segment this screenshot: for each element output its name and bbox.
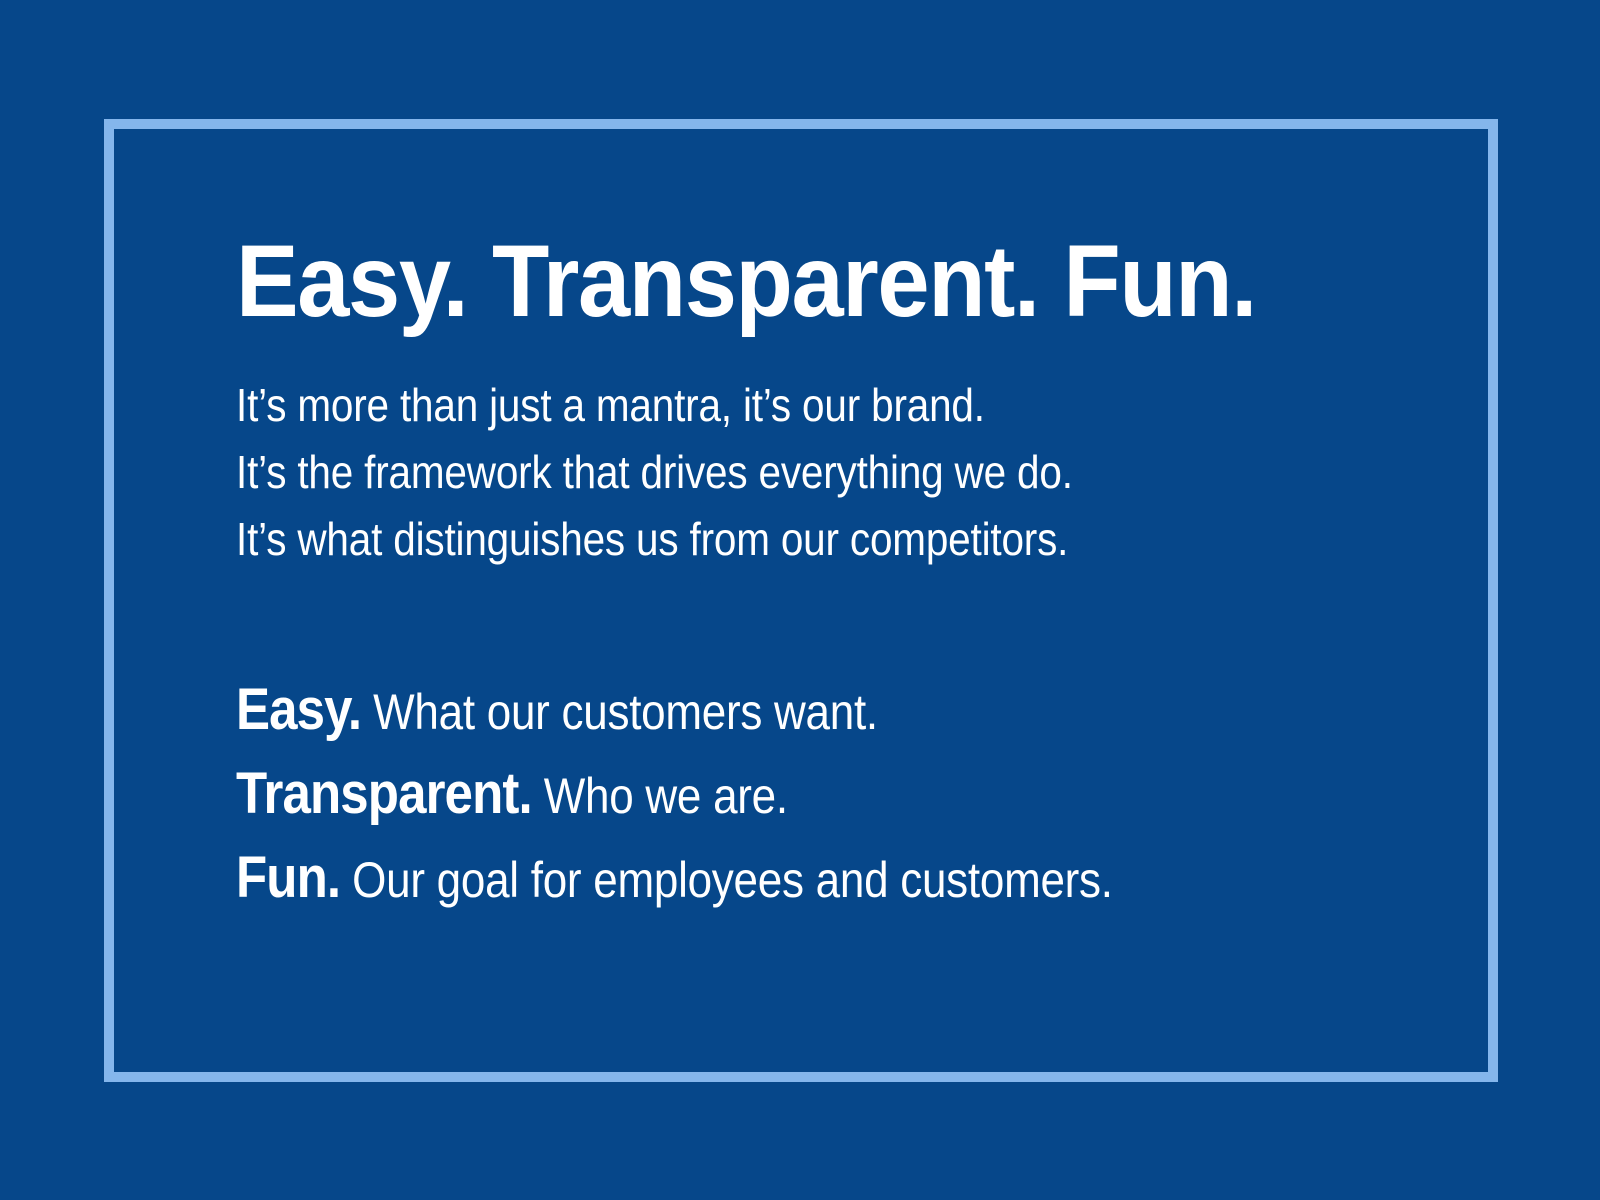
intro-line-3: It’s what distinguishes us from our comp… [236,506,1257,573]
pillar-description-fun: Our goal for employees and customers. [352,852,1113,908]
slide-canvas: Easy. Transparent. Fun. It’s more than j… [0,0,1600,1200]
pillar-description-easy: What our customers want. [373,684,878,740]
pillar-term-easy: Easy. [236,677,361,742]
list-item: Fun. Our goal for employees and customer… [236,837,1257,921]
pillar-description-transparent: Who we are. [544,768,788,824]
list-item: Easy. What our customers want. [236,669,1257,753]
list-item: Transparent. Who we are. [236,753,1257,837]
intro-line-1: It’s more than just a mantra, it’s our b… [236,372,1257,439]
pillar-term-transparent: Transparent. [236,761,532,826]
page-title: Easy. Transparent. Fun. [236,228,1303,334]
block-spacer [236,573,1396,669]
intro-paragraph: It’s more than just a mantra, it’s our b… [236,372,1396,573]
pillar-term-fun: Fun. [236,845,340,910]
slide-content: Easy. Transparent. Fun. It’s more than j… [236,228,1396,921]
pillars-list: Easy. What our customers want. Transpare… [236,669,1396,921]
intro-line-2: It’s the framework that drives everythin… [236,439,1257,506]
